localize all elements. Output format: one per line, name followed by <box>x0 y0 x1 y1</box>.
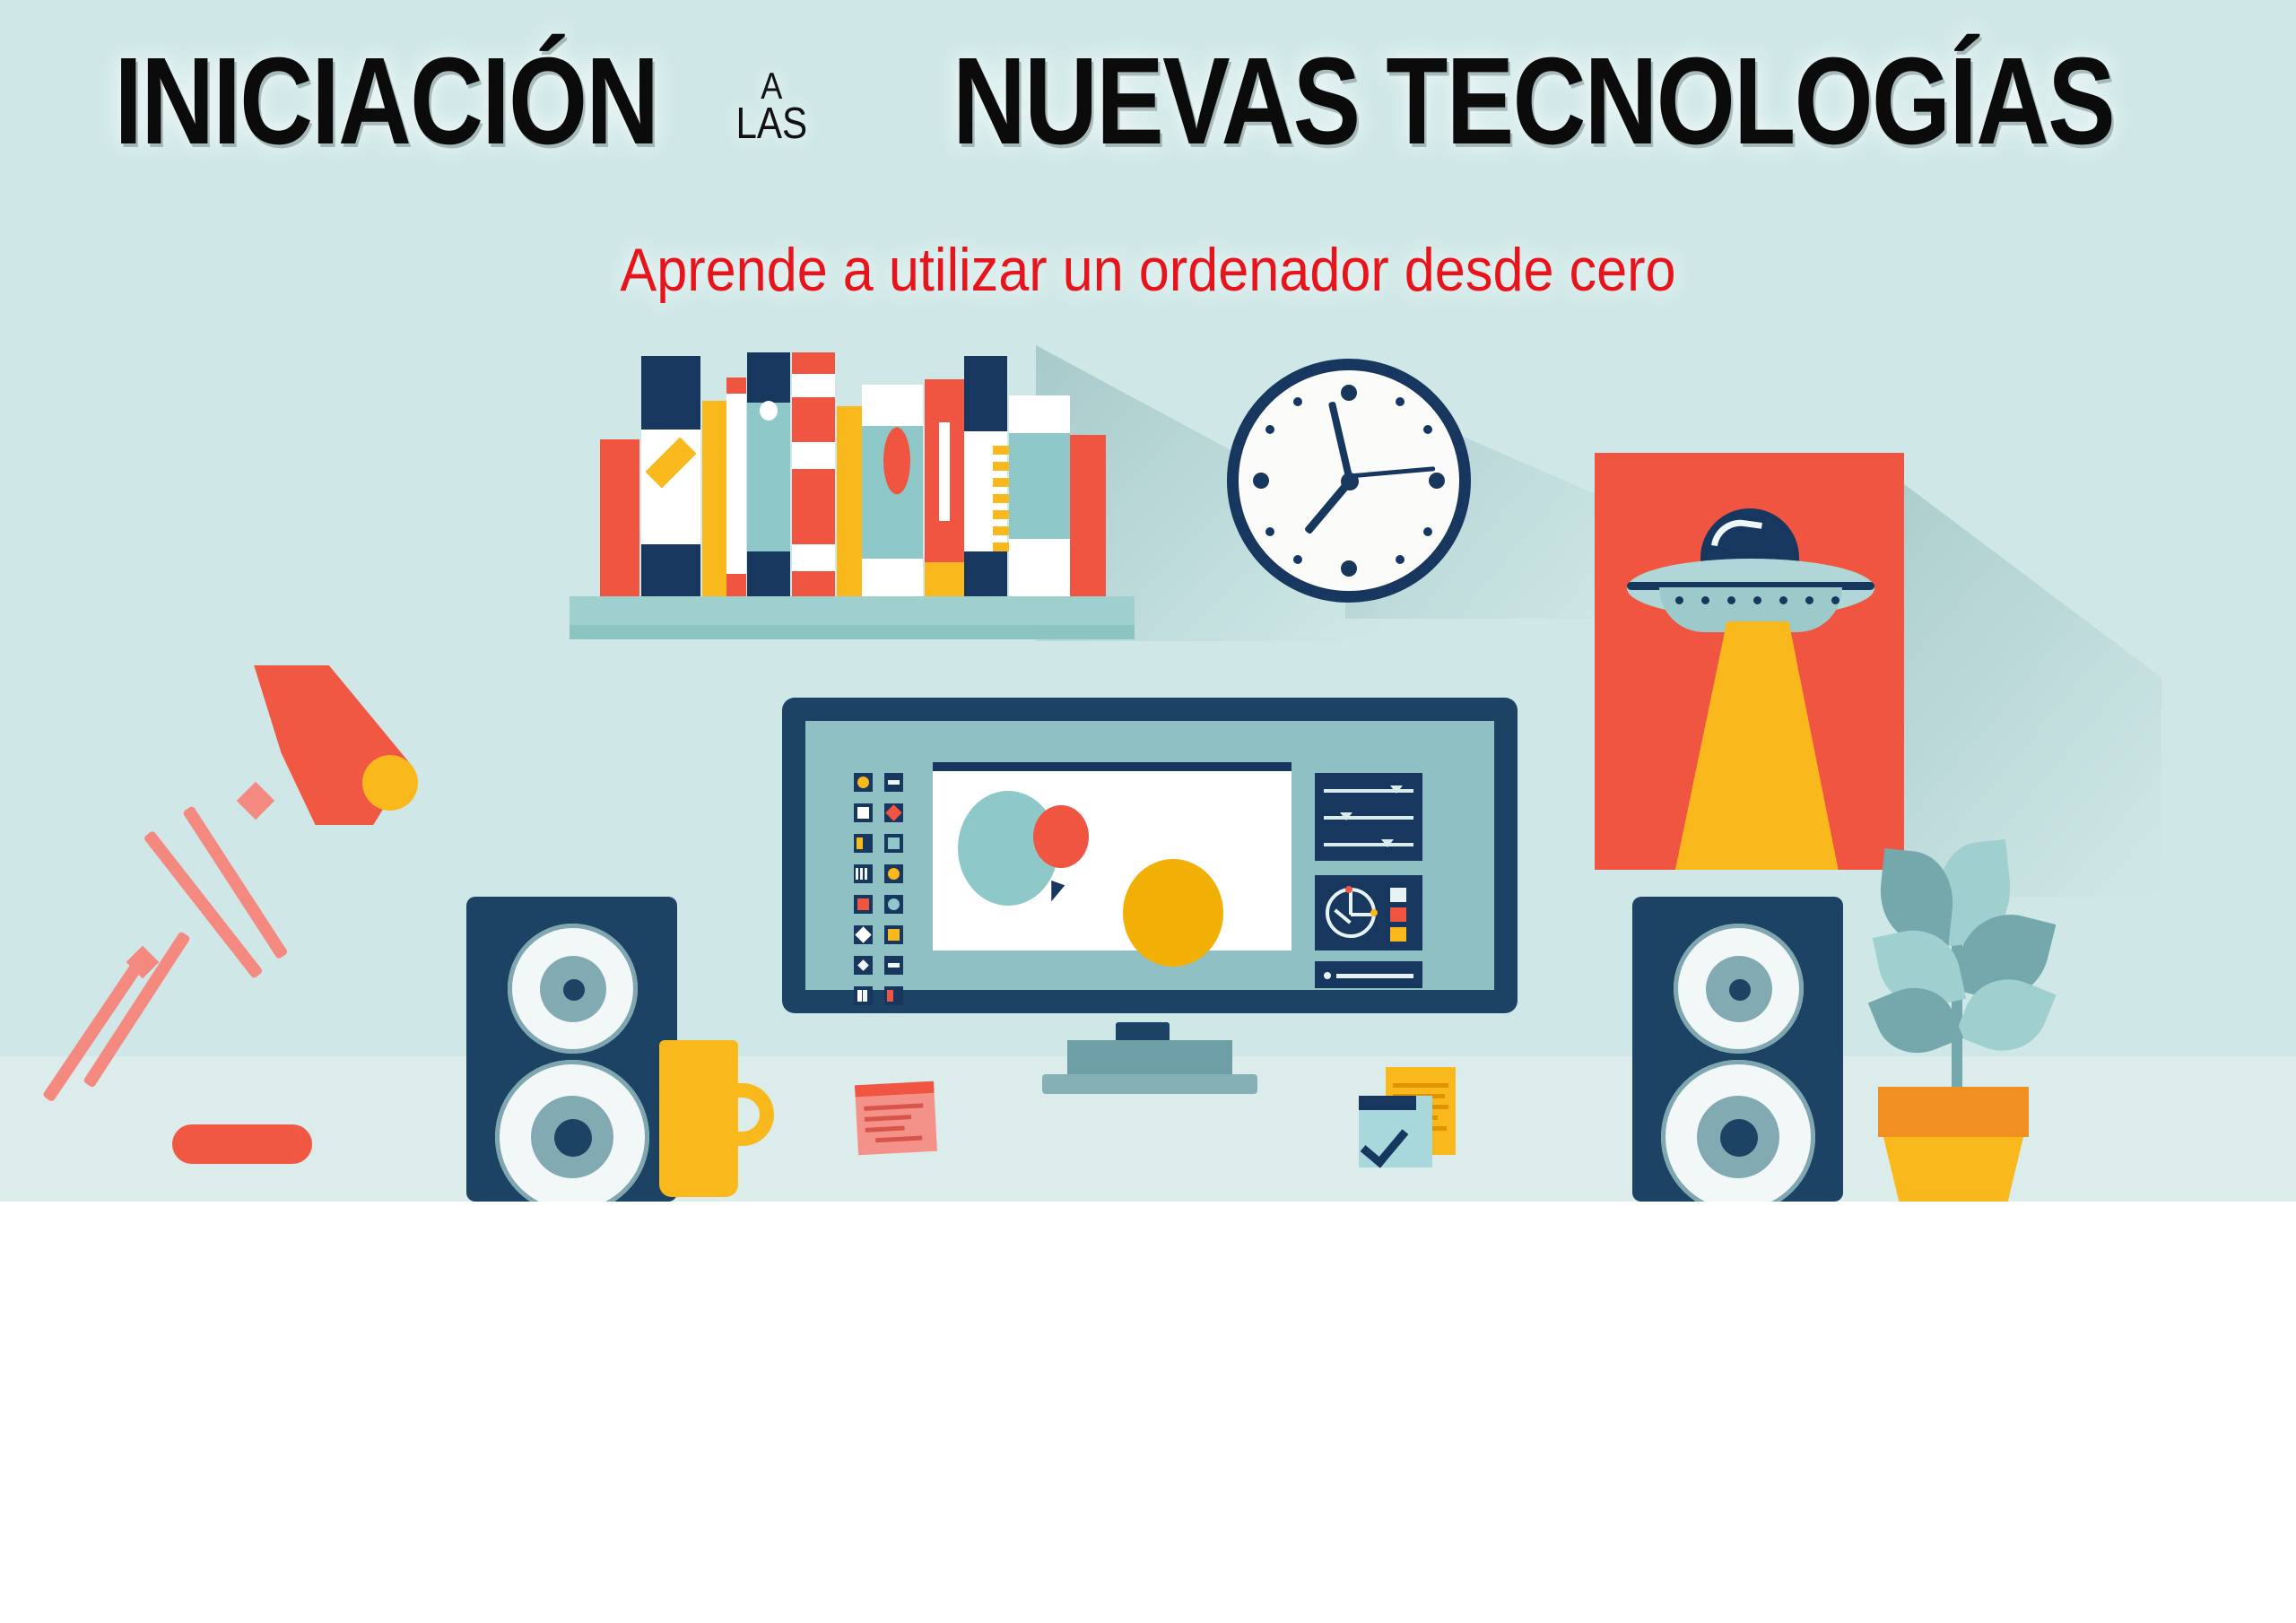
book <box>702 401 727 596</box>
potted-plant <box>1830 843 2126 1202</box>
book <box>1070 435 1106 596</box>
book <box>600 439 639 596</box>
sliders-panel <box>1315 773 1422 861</box>
hero-illustration: INICIACIÓNALASNUEVAS TECNOLOGÍAS Aprende… <box>0 0 2296 1202</box>
canvas-area <box>933 771 1291 950</box>
poster-subtitle: Aprende a utilizar un ordenador desde ce… <box>115 235 2181 305</box>
title-las: LAS <box>735 104 807 144</box>
lamp-base <box>172 1124 312 1164</box>
plant-pot-rim <box>1878 1087 2029 1137</box>
bookshelf <box>587 345 1161 641</box>
book <box>837 406 862 596</box>
poster-root: INICIACIÓNALASNUEVAS TECNOLOGÍAS Aprende… <box>0 0 2296 1623</box>
progress-panel <box>1315 961 1422 988</box>
chart-panel <box>1315 875 1422 950</box>
title-part-2: NUEVAS TECNOLOGÍAS <box>952 39 2114 163</box>
desk-lamp <box>126 665 502 1202</box>
title-part-1: INICIACIÓN <box>114 39 657 163</box>
cursor-icon <box>1045 881 1065 904</box>
title-a: A <box>735 69 807 104</box>
book <box>726 378 746 596</box>
check-icon <box>1361 1117 1409 1167</box>
plant-pot <box>1883 1137 2023 1202</box>
right-speaker <box>1632 897 1843 1202</box>
title-a-las: ALAS <box>735 69 807 144</box>
info-panel: DÍA: 8 y 10 Nov. 2017 - HORARIO: 09:30 a… <box>0 1257 2296 1623</box>
poster-title: INICIACIÓNALASNUEVAS TECNOLOGÍAS <box>0 39 2296 163</box>
wall-clock <box>1227 359 1471 603</box>
monitor-screen <box>805 721 1494 990</box>
pink-sticky-note <box>855 1081 937 1155</box>
desktop-monitor <box>782 698 1518 1128</box>
shelf-board-lip <box>570 625 1135 639</box>
ufo-beam <box>1648 621 1855 870</box>
monitor-base <box>1042 1074 1257 1094</box>
shape-yellow-circle <box>1123 859 1223 967</box>
shape-red-circle <box>1033 805 1089 868</box>
shelf-board <box>570 596 1135 625</box>
left-speaker <box>466 897 677 1202</box>
coffee-mug <box>659 1040 771 1197</box>
ufo-wall-poster <box>1595 453 1904 870</box>
checklist-note <box>1359 1096 1432 1167</box>
